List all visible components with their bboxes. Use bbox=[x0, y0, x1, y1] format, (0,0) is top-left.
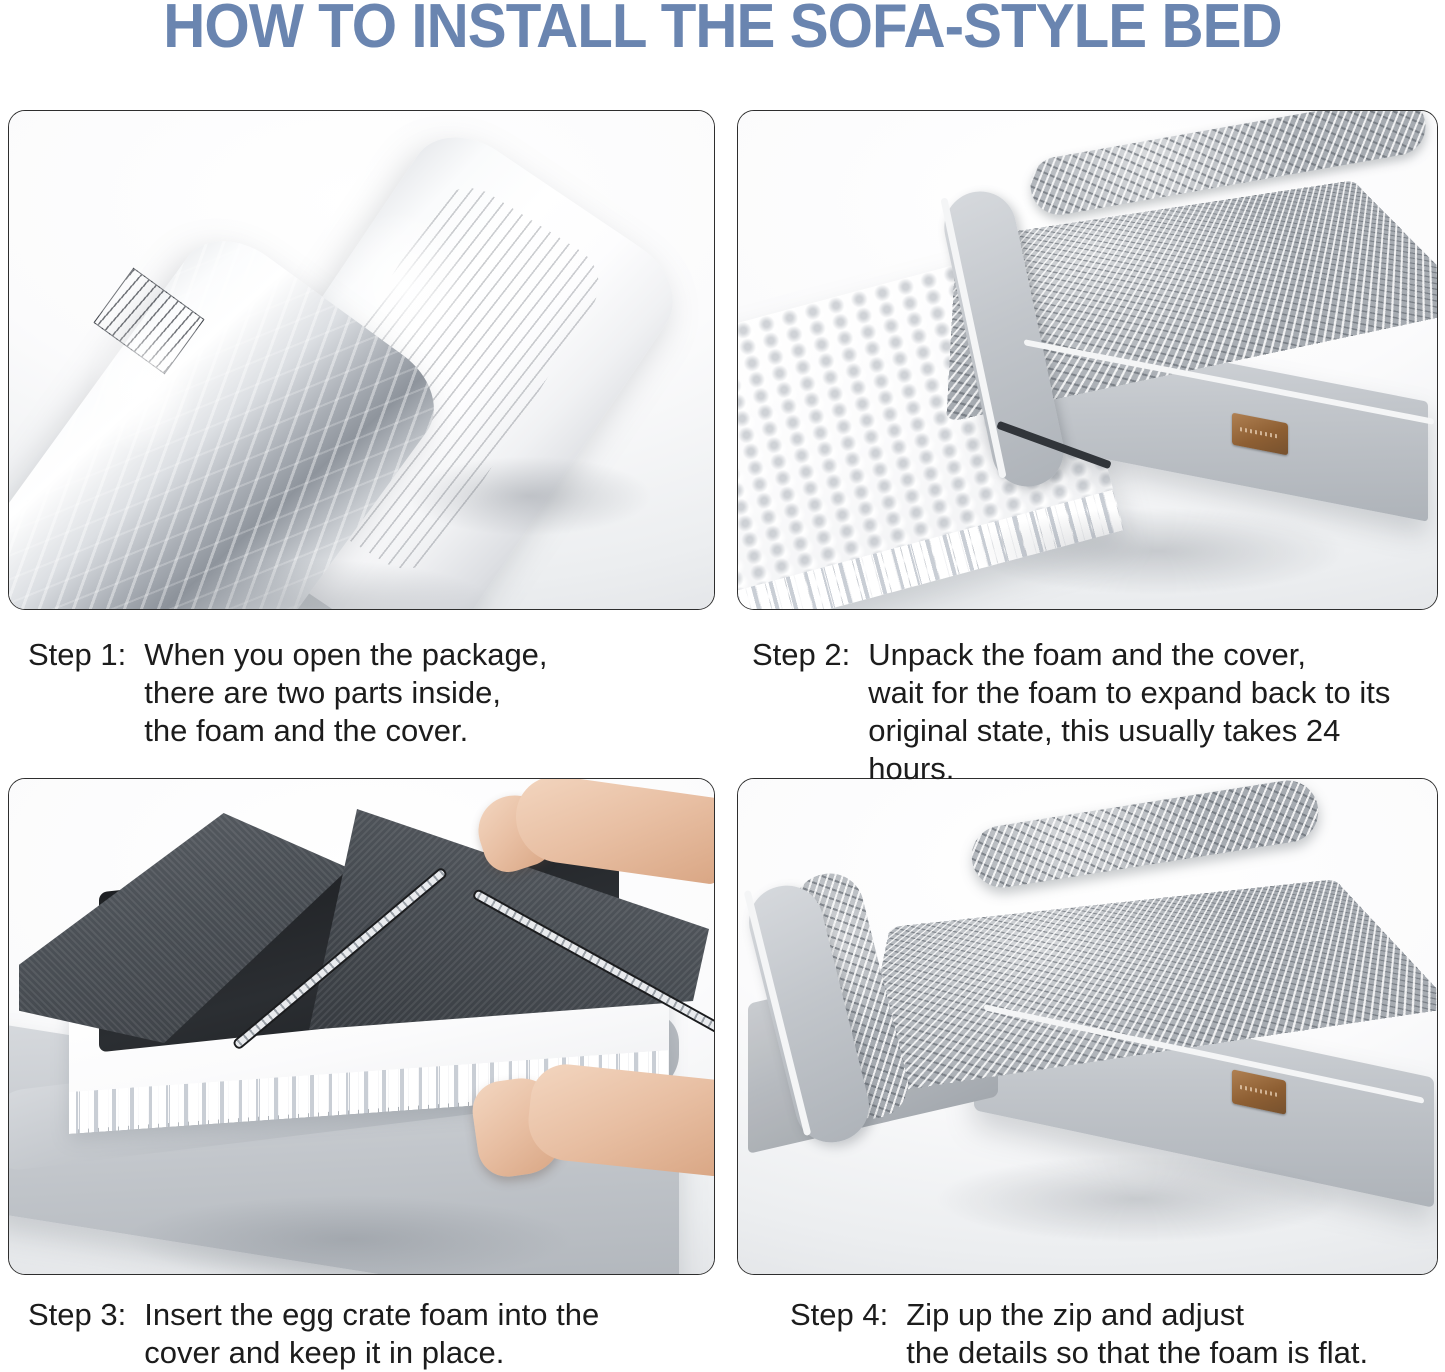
instruction-sheet: HOW TO INSTALL THE SOFA-STYLE BED bbox=[0, 0, 1445, 1370]
photo-packaged-rolls bbox=[9, 111, 714, 609]
photo-inserting-foam bbox=[9, 779, 714, 1274]
step-1-label: Step 1: bbox=[28, 636, 126, 674]
page-title: HOW TO INSTALL THE SOFA-STYLE BED bbox=[43, 0, 1401, 58]
step-4-caption: Step 4: Zip up the zip and adjust the de… bbox=[790, 1296, 1430, 1372]
step-3-image-panel bbox=[8, 778, 715, 1275]
step-2-caption: Step 2: Unpack the foam and the cover, w… bbox=[752, 636, 1432, 788]
step-1-image-panel bbox=[8, 110, 715, 610]
step-2-text: Unpack the foam and the cover, wait for … bbox=[868, 636, 1432, 788]
drop-shadow bbox=[898, 491, 1418, 609]
drop-shadow bbox=[858, 1139, 1418, 1259]
step-2-image-panel bbox=[737, 110, 1438, 610]
step-1-text: When you open the package, there are two… bbox=[144, 636, 688, 750]
step-4-text: Zip up the zip and adjust the details so… bbox=[906, 1296, 1430, 1372]
step-4-image-panel bbox=[737, 778, 1438, 1275]
step-3-text: Insert the egg crate foam into the cover… bbox=[144, 1296, 688, 1372]
drop-shadow bbox=[359, 441, 699, 551]
photo-foam-and-cover bbox=[738, 111, 1437, 609]
step-2-label: Step 2: bbox=[752, 636, 850, 674]
step-4-label: Step 4: bbox=[790, 1296, 888, 1334]
step-1-caption: Step 1: When you open the package, there… bbox=[28, 636, 688, 750]
step-3-caption: Step 3: Insert the egg crate foam into t… bbox=[28, 1296, 688, 1372]
step-3-label: Step 3: bbox=[28, 1296, 126, 1334]
photo-finished-bed bbox=[738, 779, 1437, 1274]
